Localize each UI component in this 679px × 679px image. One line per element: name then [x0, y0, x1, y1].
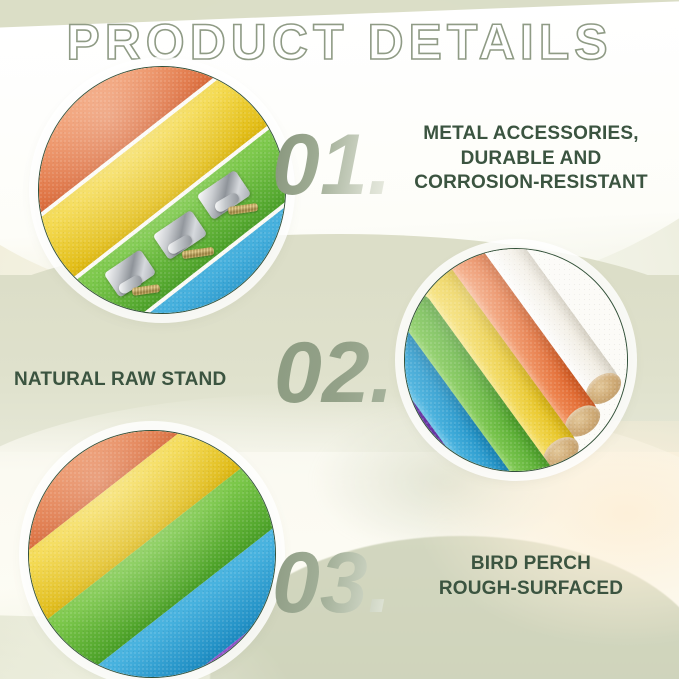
section-number-01: 01. — [272, 122, 392, 208]
natural-raw-stand-photo — [404, 248, 628, 472]
section-number-02: 02. — [274, 330, 394, 416]
perch-stripes-group-3 — [28, 430, 276, 678]
product-details-infographic: PRODUCT DETAILS — [0, 0, 679, 679]
section-number-03: 03. — [272, 540, 392, 626]
section-caption-02: NATURAL RAW STAND — [14, 368, 284, 393]
perch-rods-group — [404, 248, 628, 472]
section-caption-01: METAL ACCESSORIES, DURABLE AND CORROSION… — [390, 122, 672, 196]
section-caption-03: BIRD PERCH ROUGH-SURFACED — [400, 552, 662, 601]
bird-perch-rough-surface-photo — [28, 430, 276, 678]
metal-accessories-photo-inner — [39, 67, 285, 313]
natural-raw-stand-photo-inner — [405, 249, 627, 471]
metal-accessories-photo — [38, 66, 286, 314]
bird-perch-rough-surface-photo-inner — [29, 431, 275, 677]
page-title: PRODUCT DETAILS — [0, 13, 679, 71]
